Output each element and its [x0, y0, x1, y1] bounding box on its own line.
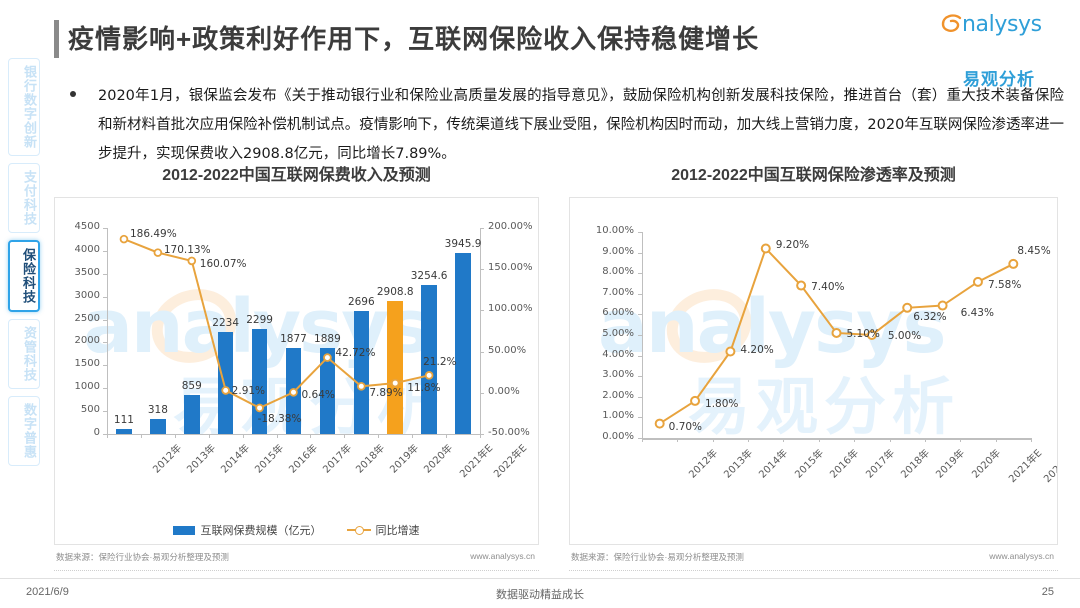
slide-footer: 2021/6/9 数据驱动精益成长 25 [0, 578, 1080, 608]
bullet-dot-icon [70, 91, 76, 97]
chart-panel-penetration-rate: 2012-2022中国互联网保险渗透率及预测 analysys 易观分析 0.0… [569, 165, 1058, 575]
plot-premium-income: 050010001500200025003000350040004500-50.… [55, 198, 538, 544]
slide: 疫情影响+政策利好作用下，互联网保险收入保持稳健增长 nalysys 易观分析 … [0, 0, 1080, 608]
line-value-label: 0.70% [669, 421, 702, 433]
chart-legend-premium-income: 互联网保费规模（亿元） 同比增速 [55, 522, 538, 538]
growth-line-series [55, 198, 538, 544]
chart-title-premium-income: 2012-2022中国互联网保费收入及预测 [54, 165, 539, 197]
logo-swirl-icon: nalysys [940, 12, 1058, 38]
chart-title-penetration-rate: 2012-2022中国互联网保险渗透率及预测 [569, 165, 1058, 197]
line-value-label: 160.07% [200, 258, 247, 270]
line-value-label: 0.64% [302, 389, 335, 401]
page-title: 疫情影响+政策利好作用下，互联网保险收入保持稳健增长 [68, 20, 759, 58]
chart-source-left: 数据来源：保险行业协会·易观分析整理及预测 www.analysys.cn [54, 551, 539, 571]
bullet-text: 2020年1月，银保监会发布《关于推动银行业和保险业高质量发展的指导意见》，鼓励… [98, 82, 1064, 169]
legend-swatch-line [347, 529, 371, 531]
sidebar-item-payment-tech[interactable]: 支付科技 [8, 163, 40, 233]
line-value-label: 5.10% [847, 328, 880, 340]
penetration-line-series [570, 198, 1057, 544]
line-value-label: 186.49% [130, 228, 177, 240]
legend-label-line: 同比增速 [376, 525, 420, 537]
line-value-label: 21.2% [423, 356, 456, 368]
sidebar-item-insurance-tech[interactable]: 保险科技 [8, 240, 40, 312]
sidebar-item-asset-mgmt-tech[interactable]: 资管科技 [8, 319, 40, 389]
chart-panel-premium-income: 2012-2022中国互联网保费收入及预测 analysys 易观分析 0500… [54, 165, 539, 575]
source-text-left: 数据来源：保险行业协会·易观分析整理及预测 [56, 551, 229, 563]
legend-swatch-bar [173, 526, 195, 535]
line-value-label: 8.45% [1017, 245, 1050, 257]
source-text-right: 数据来源：保险行业协会·易观分析整理及预测 [571, 551, 744, 563]
source-url-left: www.analysys.cn [470, 551, 535, 561]
line-value-label: 5.00% [888, 330, 921, 342]
chart-source-right: 数据来源：保险行业协会·易观分析整理及预测 www.analysys.cn [569, 551, 1058, 571]
legend-label-bar: 互联网保费规模（亿元） [200, 525, 321, 537]
line-value-label: 4.20% [740, 344, 773, 356]
source-url-right: www.analysys.cn [989, 551, 1054, 561]
line-value-label: 7.40% [811, 281, 844, 293]
analysys-logo: nalysys 易观分析 [940, 12, 1058, 90]
line-value-label: 6.43% [961, 307, 994, 319]
line-value-label: 2.91% [232, 385, 265, 397]
line-value-label: -18.38% [258, 413, 302, 425]
line-value-label: 42.72% [335, 347, 375, 359]
line-value-label: 7.58% [988, 279, 1021, 291]
line-value-label: 170.13% [164, 244, 211, 256]
footer-slogan: 数据驱动精益成长 [0, 586, 1080, 602]
logo-wordmark: nalysys [962, 12, 1042, 37]
line-value-label: 6.32% [913, 311, 946, 323]
bullet-paragraph: 2020年1月，银保监会发布《关于推动银行业和保险业高质量发展的指导意见》，鼓励… [64, 82, 1064, 169]
line-value-label: 7.89% [369, 387, 402, 399]
line-value-label: 9.20% [776, 239, 809, 251]
chart-area-premium-income: analysys 易观分析 05001000150020002500300035… [54, 197, 539, 545]
footer-page-number: 25 [1042, 586, 1054, 598]
sidebar-item-digital-inclusive[interactable]: 数字普惠 [8, 396, 40, 466]
line-value-label: 1.80% [705, 398, 738, 410]
slide-header: 疫情影响+政策利好作用下，互联网保险收入保持稳健增长 nalysys 易观分析 [0, 0, 1080, 72]
line-value-label: 11.8% [407, 382, 440, 394]
sidebar-item-bank-digital[interactable]: 银行数字创新 [8, 58, 40, 156]
chart-area-penetration-rate: analysys 易观分析 0.00%1.00%2.00%3.00%4.00%5… [569, 197, 1058, 545]
sidebar: 银行数字创新 支付科技 保险科技 资管科技 数字普惠 [6, 58, 42, 473]
title-accent-bar [54, 20, 59, 58]
plot-penetration-rate: 0.00%1.00%2.00%3.00%4.00%5.00%6.00%7.00%… [570, 198, 1057, 544]
